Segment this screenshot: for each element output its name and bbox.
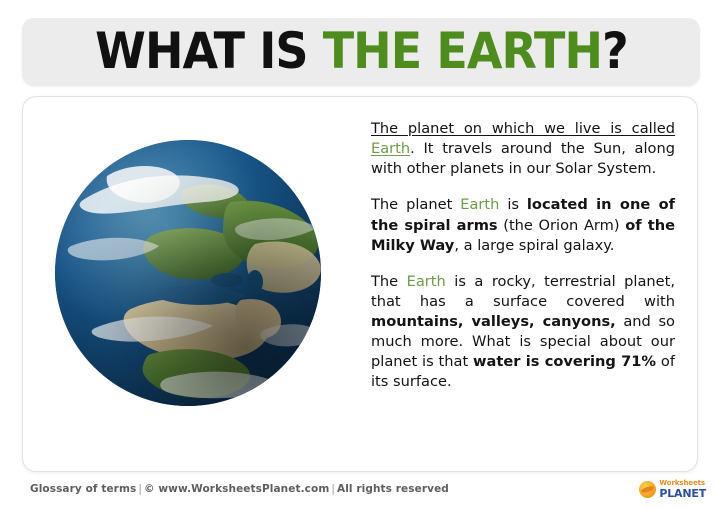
footer-website-link[interactable]: www.WorksheetsPlanet.com (158, 483, 329, 495)
worksheets-planet-logo[interactable]: Worksheets PLANET (639, 480, 706, 499)
copyright-icon: © (144, 483, 155, 495)
earth-illustration-pane (23, 97, 349, 471)
surface-bold-landforms: mountains, valleys, canyons, (371, 313, 616, 330)
definition-underlined-lead: The planet on which we live is called (371, 120, 675, 137)
surface-earth-keyword: Earth (407, 273, 446, 290)
page-title-green-part: THE EARTH (322, 22, 601, 80)
page-title-question-mark: ? (602, 22, 628, 80)
location-part1: The planet (371, 196, 460, 213)
logo-word-worksheets: Worksheets (659, 480, 706, 487)
footer-rights-text: All rights reserved (337, 483, 449, 495)
planet-globe-icon (639, 481, 656, 498)
page-footer: Glossary of terms|© www.WorksheetsPlanet… (0, 478, 720, 509)
footer-credits: Glossary of terms|© www.WorksheetsPlanet… (30, 483, 449, 495)
surface-bold-water-percentage: water is covering 71% (473, 353, 656, 370)
page-title-dark-part: WHAT IS (95, 22, 323, 80)
definition-earth-keyword: Earth (371, 140, 410, 157)
logo-wordmark: Worksheets PLANET (659, 480, 706, 499)
location-part3: (the Orion Arm) (498, 217, 626, 234)
page-title: WHAT IS THE EARTH? (95, 26, 628, 76)
footer-glossary-link[interactable]: Glossary of terms (30, 483, 136, 495)
surface-part1: The (371, 273, 407, 290)
footer-separator-2: | (329, 483, 337, 495)
location-part2: is (499, 196, 527, 213)
location-earth-keyword: Earth (460, 196, 499, 213)
paragraph-definition: The planet on which we live is called Ea… (371, 119, 675, 179)
paragraph-surface: The Earth is a rocky, terrestrial planet… (371, 272, 675, 393)
content-card: The planet on which we live is called Ea… (22, 96, 698, 472)
footer-separator-1: | (136, 483, 144, 495)
location-part4: , a large spiral galaxy. (454, 237, 614, 254)
definition-rest: . It travels around the Sun, along with … (371, 140, 675, 177)
paragraph-location: The planet Earth is located in one of th… (371, 195, 675, 255)
article-text-pane: The planet on which we live is called Ea… (349, 97, 697, 471)
header-banner: WHAT IS THE EARTH? (22, 18, 700, 86)
logo-word-planet: PLANET (659, 488, 706, 499)
earth-globe-image (55, 140, 321, 406)
